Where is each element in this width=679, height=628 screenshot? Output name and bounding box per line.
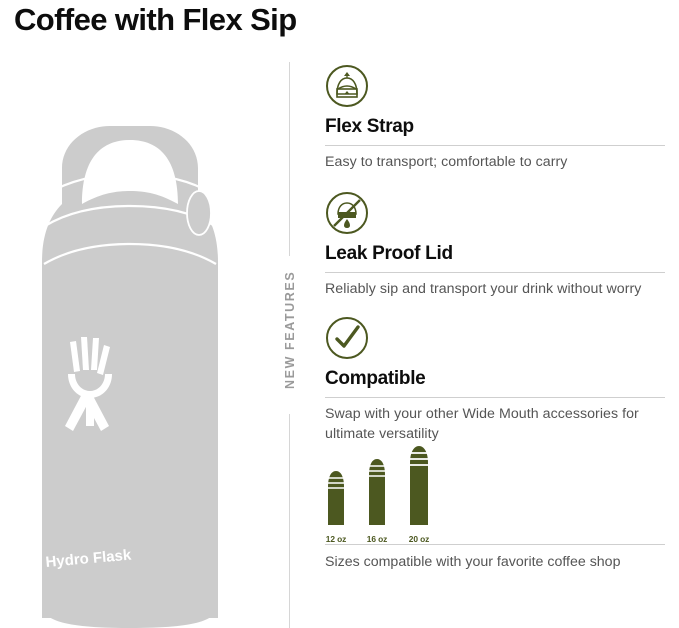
sizes-caption: Sizes compatible with your favorite coff… [325,553,665,573]
side-button [187,191,211,235]
flex-strap-icon [325,64,369,108]
size-comparison: 12 oz 16 oz 20 oz [325,460,665,544]
feature-leak-proof-lid: Leak Proof Lid Reliably sip and transpor… [325,191,665,300]
feature-divider [325,145,665,146]
bottle-12oz-icon [325,465,347,527]
bottle-16oz-icon [366,455,388,527]
feature-description: Swap with your other Wide Mouth accessor… [325,405,665,444]
feature-divider [325,397,665,398]
size-option: 16 oz [366,455,388,544]
feature-description: Reliably sip and transport your drink wi… [325,280,665,300]
feature-title: Compatible [325,367,665,391]
rail-divider-bottom [289,414,290,628]
feature-compatible: Compatible Swap with your other Wide Mou… [325,316,665,444]
bottle-graphic: Hydro Flask [0,48,262,628]
feature-divider [325,272,665,273]
size-option: 12 oz [325,465,347,544]
feature-flex-strap: Flex Strap Easy to transport; comfortabl… [325,64,665,173]
feature-title: Leak Proof Lid [325,242,665,266]
leak-proof-icon [325,191,369,235]
feature-description: Easy to transport; comfortable to carry [325,153,665,173]
page-title: Coffee with Flex Sip [14,0,297,40]
new-features-label: NEW FEATURES [283,273,297,389]
rail-divider-top [289,62,290,256]
product-illustration: Hydro Flask [0,48,262,628]
checkmark-circle-icon [325,316,369,360]
feature-list: Flex Strap Easy to transport; comfortabl… [325,64,665,573]
bottle-20oz-icon [407,443,431,527]
bottle-base [42,588,218,628]
sizes-divider [325,544,665,545]
size-label: 20 oz [407,534,431,544]
feature-title: Flex Strap [325,115,665,139]
size-option: 20 oz [407,443,431,544]
size-label: 16 oz [366,534,388,544]
new-features-rail: NEW FEATURES [278,62,302,628]
size-label: 12 oz [325,534,347,544]
